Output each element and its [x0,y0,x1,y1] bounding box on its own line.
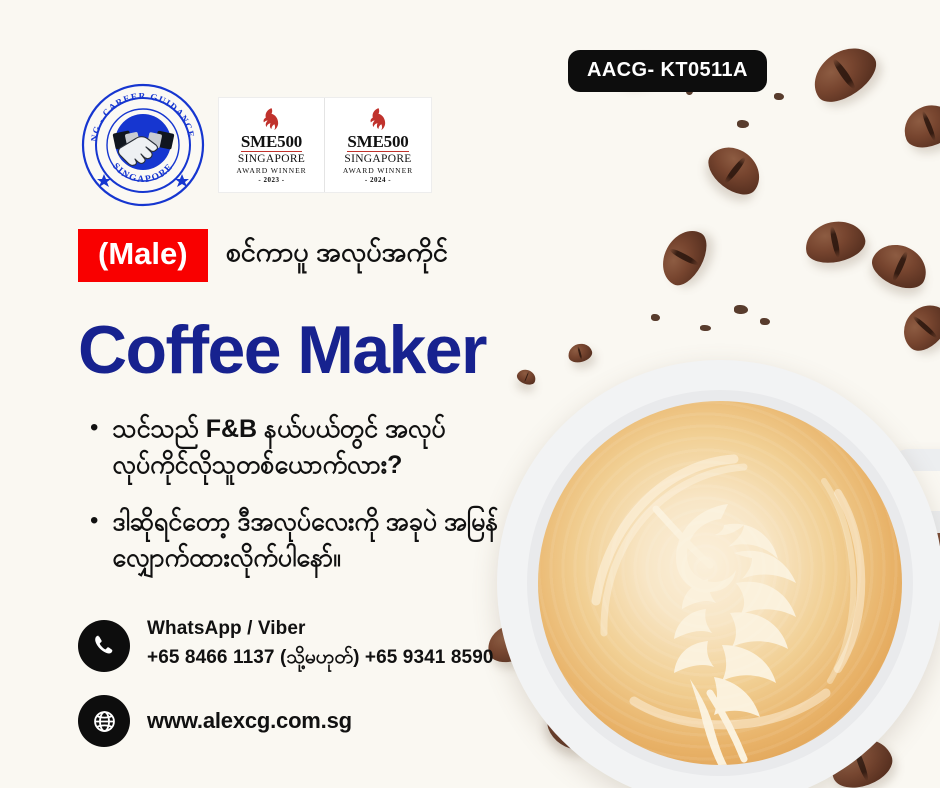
phone-icon [78,620,130,672]
award-country: SINGAPORE [344,152,411,166]
website-url[interactable]: www.alexcg.com.sg [147,708,352,734]
award-badge-2024: SME500 SINGAPORE AWARD WINNER - 2024 - [325,98,431,192]
contact-channel-label: WhatsApp / Viber [147,618,494,640]
contact-website-row[interactable]: www.alexcg.com.sg [78,695,494,747]
content-layer: AACG- KT0511A ALEX AUNG - CAREER GUIDANC… [0,0,940,788]
award-badge-2023: SME500 SINGAPORE AWARD WINNER - 2023 - [219,98,325,192]
award-country: SINGAPORE [238,152,305,166]
bullet-marker: • [90,412,98,483]
page-title: Coffee Maker [78,316,486,384]
globe-icon [78,695,130,747]
list-item: • ဒါဆိုရင်တော့ ဒီအလုပ်လေးကို အခုပဲ အမြန်… [90,505,520,576]
lion-icon [369,107,388,132]
lion-icon [262,107,281,132]
company-logo: ALEX AUNG - CAREER GUIDANCE SERVICE SING… [80,82,206,208]
bullet-text: ဒါဆိုရင်တော့ ဒီအလုပ်လေးကို အခုပဲ အမြန်လျ… [112,505,520,576]
bullet-list: • သင်သည် F&B နယ်ပယ်တွင် အလုပ် လုပ်ကိုင်လ… [90,412,520,598]
award-subtitle: AWARD WINNER [343,166,413,176]
contact-phone-numbers: +65 8466 1137 (သို့မဟုတ်) +65 9341 8590 [147,645,494,673]
award-subtitle: AWARD WINNER [236,166,306,176]
award-title: SME500 [347,133,408,152]
contact-block: WhatsApp / Viber +65 8466 1137 (သို့မဟုတ… [78,618,494,769]
bullet-marker: • [90,505,98,576]
job-code-badge: AACG- KT0511A [568,50,767,92]
contact-phone-row[interactable]: WhatsApp / Viber +65 8466 1137 (သို့မဟုတ… [78,618,494,673]
bullet-text: သင်သည် F&B နယ်ပယ်တွင် အလုပ် လုပ်ကိုင်လို… [112,412,520,483]
gender-badge: (Male) [78,229,208,282]
job-poster: AACG- KT0511A ALEX AUNG - CAREER GUIDANC… [0,0,940,788]
award-year: - 2024 - [365,176,391,184]
subtitle-burmese: စင်ကာပူ အလုပ်အကိုင် [226,235,448,275]
award-year: - 2023 - [258,176,284,184]
list-item: • သင်သည် F&B နယ်ပယ်တွင် အလုပ် လုပ်ကိုင်လ… [90,412,520,483]
brand-row: ALEX AUNG - CAREER GUIDANCE SERVICE SING… [80,82,432,208]
handshake-logo-icon: ALEX AUNG - CAREER GUIDANCE SERVICE SING… [80,82,206,208]
award-title: SME500 [241,133,302,152]
headline-row: (Male) စင်ကာပူ အလုပ်အကိုင် [78,229,448,282]
contact-phone-lines: WhatsApp / Viber +65 8466 1137 (သို့မဟုတ… [147,618,494,673]
award-badges: SME500 SINGAPORE AWARD WINNER - 2023 - S… [218,97,432,193]
